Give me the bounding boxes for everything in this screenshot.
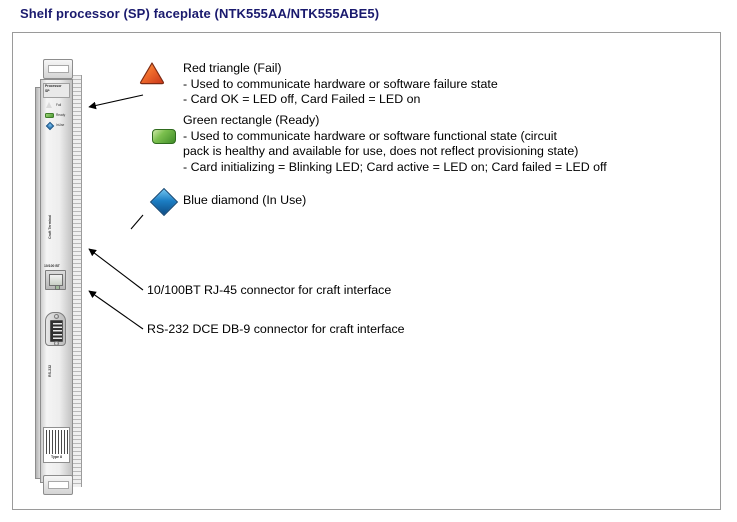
callout-label-db9: RS-232 DCE DB-9 connector for craft inte… <box>147 322 405 338</box>
red-triangle-icon <box>139 61 165 85</box>
legend-red-triangle-line3: - Card OK = LED off, Card Failed = LED o… <box>183 92 420 108</box>
green-rectangle-icon <box>45 113 54 118</box>
faceplate-led-cluster: Fail Ready InUse <box>43 101 70 133</box>
faceplate-top-ejector-handle <box>43 59 73 79</box>
blue-diamond-icon <box>150 188 178 216</box>
faceplate-type-label: Type 8 <box>44 455 69 459</box>
db9-connector-icon <box>45 312 66 346</box>
faceplate-name-line2: SP <box>45 89 50 93</box>
db9-top-screw <box>54 314 59 319</box>
faceplate-led-fail: Fail <box>45 101 70 110</box>
ejector-handle-slot-bottom <box>48 481 69 489</box>
db9-pin-array <box>53 323 62 341</box>
faceplate-spine <box>35 87 41 479</box>
callout-label-rj45: 10/100BT RJ-45 connector for craft inter… <box>147 283 391 299</box>
faceplate-led-inuse: InUse <box>45 121 70 130</box>
db9-bottom-screw <box>54 341 59 346</box>
db9-shell <box>50 320 63 342</box>
shelf-processor-faceplate-illustration: Processor SP Fail Ready InUse Craft Term… <box>35 57 91 497</box>
figure-frame: Processor SP Fail Ready InUse Craft Term… <box>12 32 721 510</box>
faceplate-bottom-ejector-handle <box>43 475 73 495</box>
legend-green-rectangle-line1: Green rectangle (Ready) <box>183 113 319 129</box>
faceplate-name-line1: Processor <box>45 84 62 88</box>
legend-red-triangle-line2: - Used to communicate hardware or softwa… <box>183 77 498 93</box>
faceplate-name-label: Processor SP <box>43 83 70 98</box>
faceplate-led-fail-label: Fail <box>56 103 61 107</box>
faceplate-craft-terminal-label: Craft Terminal <box>48 215 52 239</box>
legend-green-rectangle-line3: pack is healthy and available for use, d… <box>183 144 578 160</box>
ejector-handle-slot <box>48 65 69 73</box>
faceplate-led-ready-label: Ready <box>56 113 65 117</box>
rj45-latch-tab <box>55 285 60 290</box>
faceplate-ethernet-label: 10/100 BT <box>44 264 60 268</box>
rj45-jack-opening <box>49 274 63 286</box>
red-triangle-icon <box>46 102 52 108</box>
legend-blue-diamond-line1: Blue diamond (In Use) <box>183 193 306 209</box>
blue-diamond-icon <box>45 121 53 129</box>
rj45-connector-icon <box>45 270 66 290</box>
page-title: Shelf processor (SP) faceplate (NTK555AA… <box>20 6 379 21</box>
faceplate-led-inuse-label: InUse <box>56 123 64 127</box>
legend-red-triangle-line1: Red triangle (Fail) <box>183 61 281 77</box>
faceplate-barcode-label: Type 8 <box>43 427 70 463</box>
green-rectangle-icon <box>152 129 176 144</box>
legend-green-rectangle-line2: - Used to communicate hardware or softwa… <box>183 129 557 145</box>
faceplate-led-ready: Ready <box>45 111 70 120</box>
barcode-lines <box>46 430 69 454</box>
faceplate-rs232-label: RS-232 <box>48 365 52 377</box>
legend-green-rectangle-line4: - Card initializing = Blinking LED; Card… <box>183 160 607 176</box>
